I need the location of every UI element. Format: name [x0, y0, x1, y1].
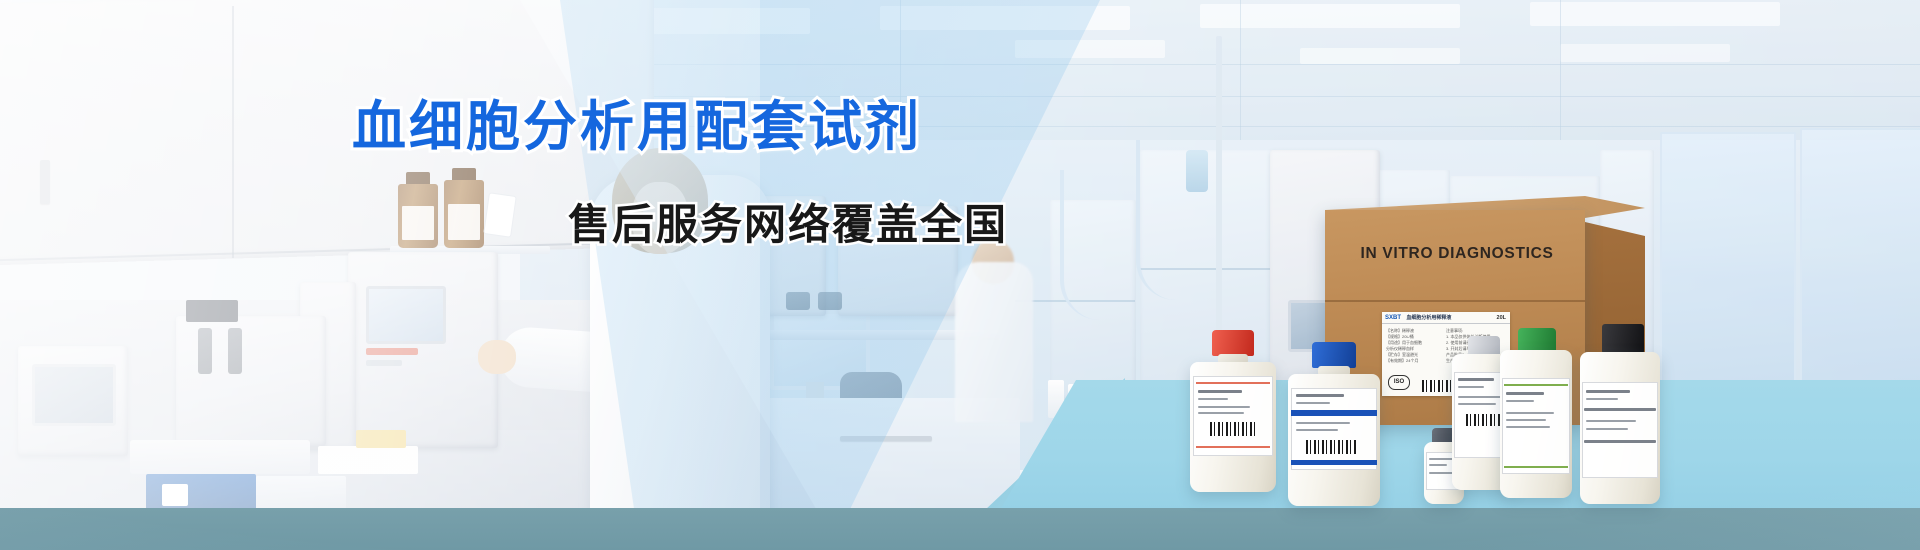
label-accent-band	[1291, 460, 1377, 465]
bottle-cap-white	[1468, 336, 1500, 356]
label-product-name: 血细胞分析用稀释液	[1406, 315, 1451, 321]
label-volume: 20L	[1497, 312, 1506, 324]
carton-seam	[1325, 300, 1585, 302]
label-text-line	[1506, 426, 1550, 428]
label-column-one: 【名称】稀释液 【规格】20L/桶 【用途】用于血细胞 分析仪稀释血样 【贮存】…	[1386, 328, 1442, 364]
label-accent-rule	[1196, 446, 1270, 448]
label-accent-rule	[1504, 466, 1568, 468]
product-table-edge	[0, 508, 1920, 550]
page-subtitle: 售后服务网络覆盖全国	[568, 203, 1008, 248]
label-text-line	[1458, 403, 1496, 405]
page-title: 血细胞分析用配套试剂	[352, 98, 922, 155]
label-text-line	[1458, 396, 1502, 398]
bottle-cap-blue	[1312, 342, 1356, 368]
label-accent-rule	[1196, 382, 1270, 384]
label-text-line	[1429, 464, 1447, 466]
bottle-label	[1582, 382, 1658, 478]
label-text-line	[1458, 378, 1494, 381]
label-accent-rule	[1504, 384, 1568, 386]
iso-mark: ISO	[1388, 375, 1410, 390]
label-text-line	[1429, 458, 1453, 460]
label-line: 【有效期】24个月	[1386, 358, 1418, 363]
label-text-line	[1198, 398, 1228, 400]
carton-text: IN VITRO DIAGNOSTICS	[1342, 246, 1572, 262]
label-line: 注意事项:	[1446, 328, 1463, 333]
label-text-line	[1506, 400, 1534, 402]
hero-banner: IN VITRO DIAGNOSTICS SXBT 血细胞分析用稀释液 20L …	[0, 0, 1920, 550]
bottle-cap-black	[1602, 324, 1644, 354]
label-text-line	[1296, 394, 1344, 397]
label-text-line	[1584, 408, 1656, 411]
label-text-line	[1586, 398, 1618, 400]
label-accent-band	[1291, 410, 1377, 416]
label-line: 【用途】用于血细胞	[1386, 340, 1422, 345]
label-text-line	[1198, 390, 1242, 393]
label-text-line	[1458, 386, 1484, 388]
label-text-line	[1586, 420, 1636, 422]
bottle-cap-green	[1518, 328, 1556, 352]
label-text-line	[1586, 428, 1628, 430]
barcode	[1466, 414, 1504, 426]
label-brand: SXBT	[1385, 315, 1401, 321]
bottle-cap-red	[1212, 330, 1254, 356]
bottle-label	[1193, 376, 1273, 456]
label-text-line	[1296, 422, 1350, 424]
label-text-line	[1198, 406, 1250, 408]
label-text-line	[1296, 402, 1330, 404]
label-line: 分析仪稀释血样	[1386, 346, 1414, 351]
label-line: 【名称】稀释液	[1386, 328, 1414, 333]
label-text-line	[1586, 390, 1630, 393]
label-text-line	[1584, 440, 1656, 443]
barcode	[1210, 422, 1258, 436]
label-header: SXBT 血细胞分析用稀释液 20L	[1382, 312, 1510, 324]
label-text-line	[1198, 412, 1244, 414]
label-text-line	[1506, 412, 1554, 414]
label-line: 【规格】20L/桶	[1386, 334, 1414, 339]
white-fade-overlay	[0, 0, 760, 550]
barcode	[1306, 440, 1358, 454]
label-line: 【贮存】室温避光	[1386, 352, 1418, 357]
label-text-line	[1296, 429, 1338, 431]
label-text-line	[1506, 392, 1544, 395]
label-text-line	[1506, 419, 1546, 421]
